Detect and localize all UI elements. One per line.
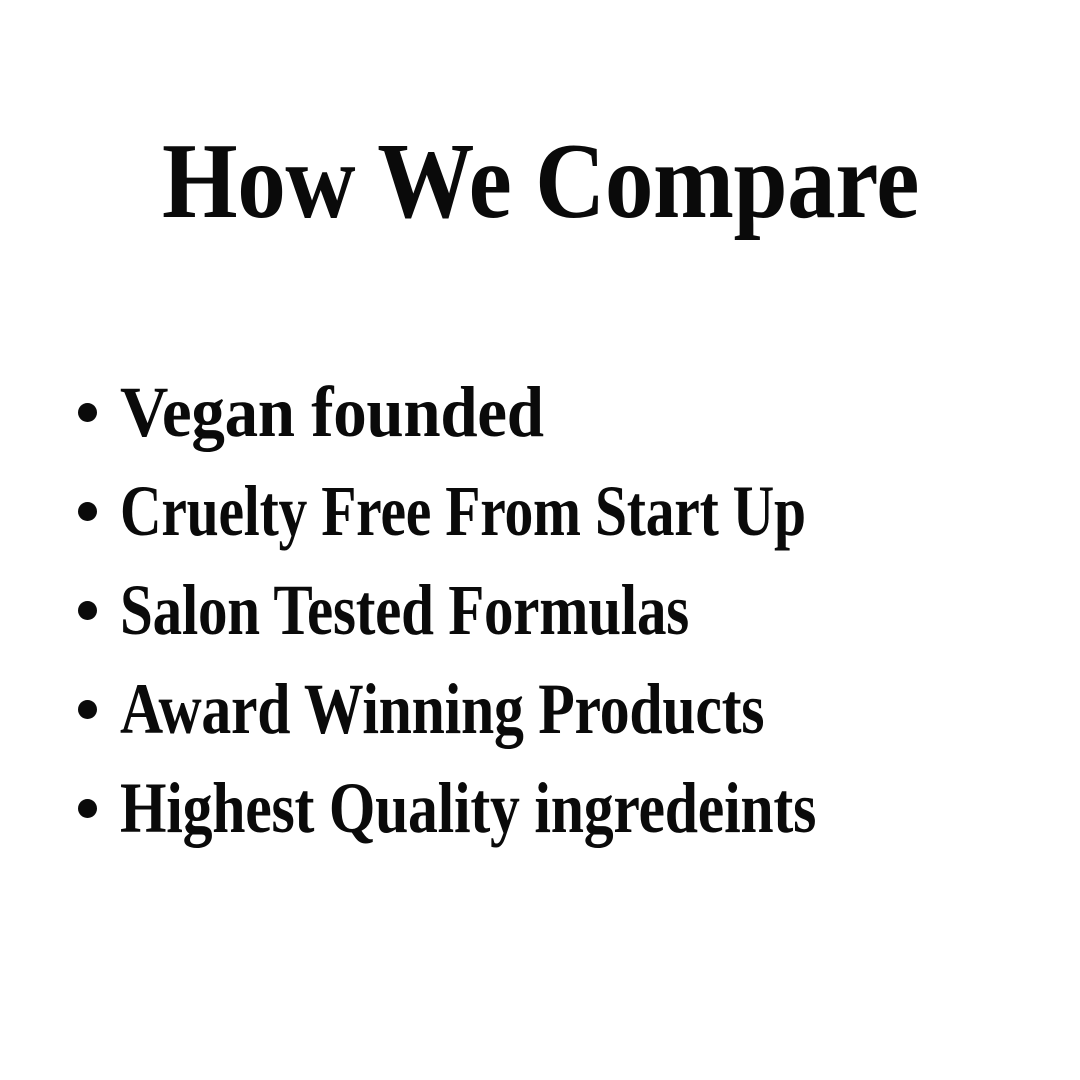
list-item: Cruelty Free From Start Up (0, 461, 1080, 560)
benefit-label: Cruelty Free From Start Up (120, 475, 806, 547)
bullet-icon (78, 601, 97, 620)
bullet-icon (78, 799, 97, 818)
benefit-label: Vegan founded (120, 376, 544, 448)
title-block: How We Compare (0, 128, 1080, 236)
benefit-label: Award Winning Products (120, 673, 764, 745)
list-item: Vegan founded (0, 362, 1080, 461)
benefits-list: Vegan founded Cruelty Free From Start Up… (0, 362, 1080, 857)
bullet-icon (78, 502, 97, 521)
list-item: Salon Tested Formulas (0, 560, 1080, 659)
list-item: Award Winning Products (0, 659, 1080, 758)
bullet-icon (78, 700, 97, 719)
promo-slide: How We Compare Vegan founded Cruelty Fre… (0, 0, 1080, 1080)
bullet-icon (78, 403, 97, 422)
list-item: Highest Quality ingredeints (0, 758, 1080, 857)
benefit-label: Salon Tested Formulas (120, 574, 689, 646)
benefit-label: Highest Quality ingredeints (120, 772, 816, 844)
page-title: How We Compare (162, 128, 919, 236)
